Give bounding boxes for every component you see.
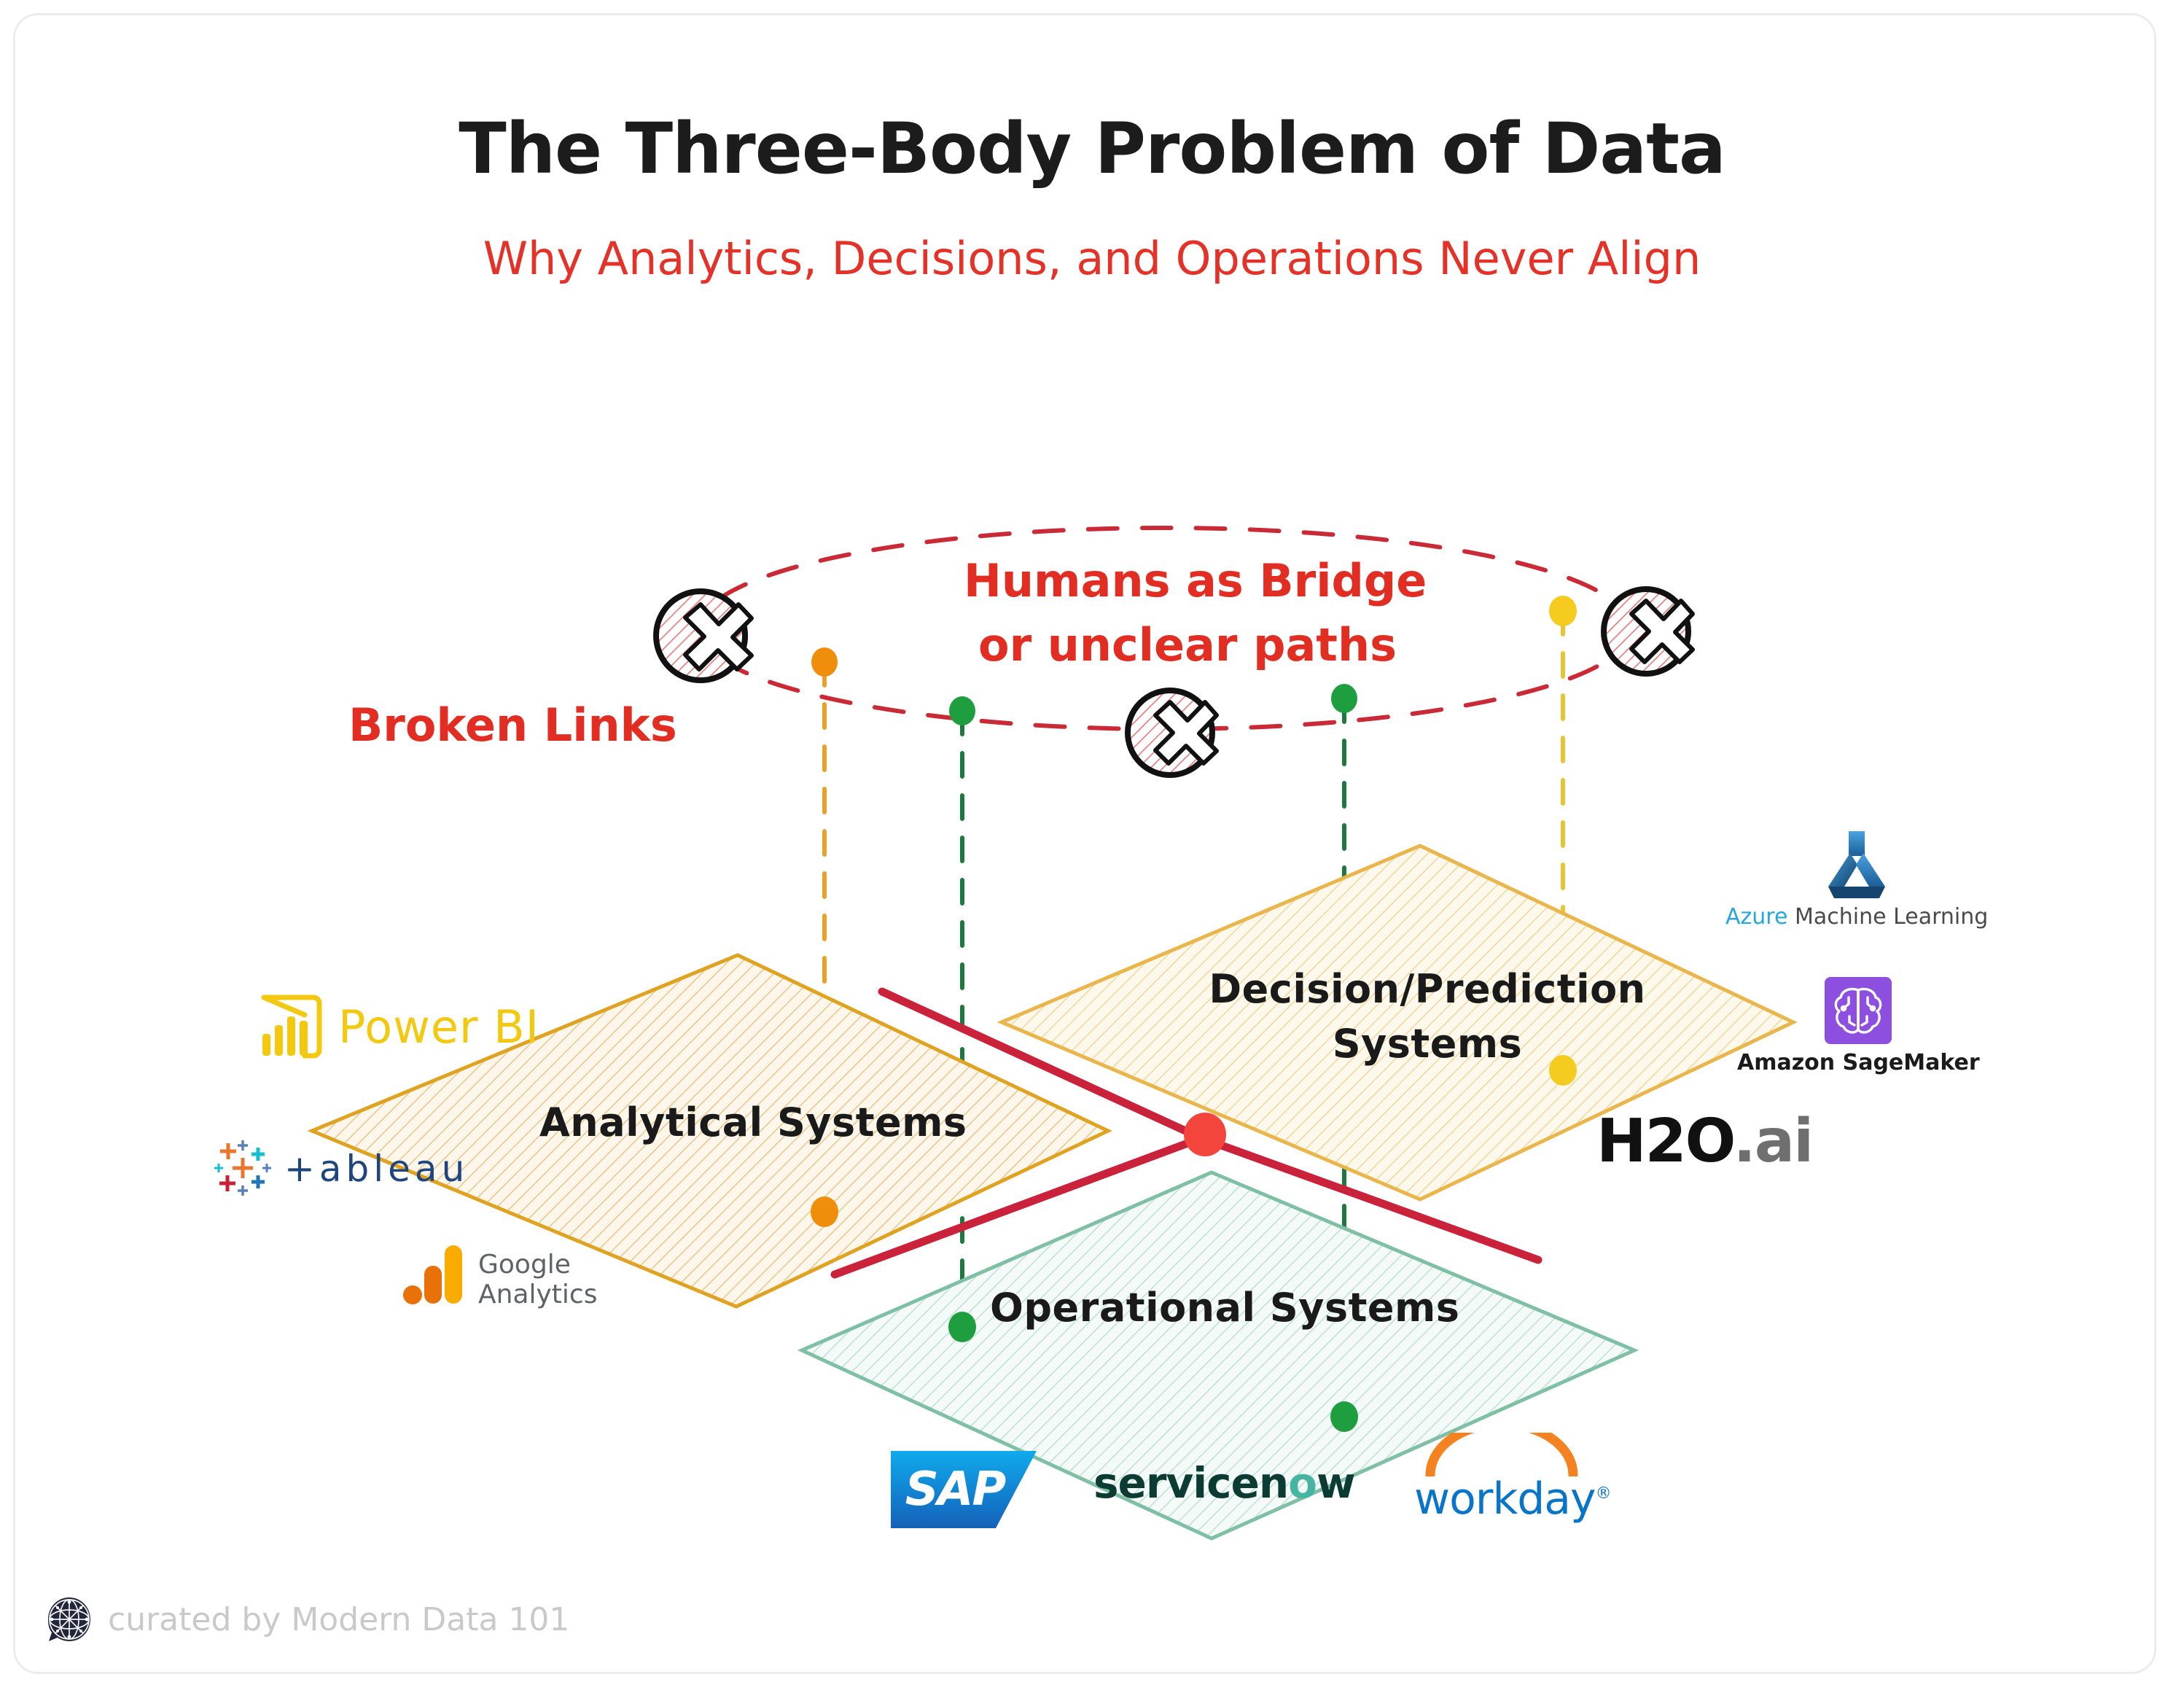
sagemaker-label: Amazon SageMaker	[1737, 1050, 1980, 1075]
google-analytics-line1: Google	[478, 1250, 597, 1280]
servicenow-accent-o: o	[1288, 1458, 1317, 1508]
plane-label-decision-line1: Decision/Prediction	[1201, 966, 1653, 1012]
dot-green-bottom-left	[948, 1312, 976, 1342]
servicenow-pre: servicen	[1093, 1458, 1288, 1508]
workday-label: workday®	[1414, 1474, 1611, 1525]
power-bi-label: Power BI	[338, 1000, 539, 1054]
power-bi-icon	[257, 989, 327, 1064]
dot-orange-top	[811, 647, 838, 677]
plane-label-operational: Operational Systems	[990, 1285, 1442, 1331]
footer-text: curated by Modern Data 101	[108, 1601, 569, 1638]
google-analytics-icon	[402, 1239, 467, 1309]
sap-icon: SAP	[891, 1451, 1037, 1528]
dot-green-bottom-right	[1330, 1401, 1358, 1432]
logo-h2o-ai[interactable]: H2O.ai	[1596, 1107, 1812, 1176]
logo-power-bi[interactable]: Power BI	[257, 989, 539, 1064]
workday-word: workday	[1414, 1474, 1596, 1525]
azure-ml-label: Azure Machine Learning	[1725, 904, 1988, 930]
modern-data-101-logo-icon	[45, 1595, 93, 1643]
h2o-main: H2O	[1596, 1107, 1733, 1176]
azure-ml-brand: Azure	[1725, 904, 1787, 930]
dot-green-top-left	[949, 696, 975, 725]
logo-google-analytics[interactable]: Google Analytics	[402, 1239, 597, 1309]
collision-point-dot	[1184, 1113, 1226, 1156]
logo-servicenow[interactable]: servicenow	[1093, 1458, 1355, 1508]
logo-azure-ml[interactable]: Azure Machine Learning	[1725, 828, 1988, 930]
plane-label-analytical: Analytical Systems	[539, 1099, 948, 1145]
servicenow-label: servicenow	[1093, 1458, 1355, 1508]
workday-registered: ®	[1596, 1484, 1611, 1503]
sagemaker-brain-icon	[1825, 977, 1892, 1044]
logo-tableau[interactable]: +ableau	[213, 1137, 469, 1200]
dot-orange-bottom	[811, 1196, 838, 1227]
broken-link-icon-right[interactable]	[1604, 589, 1693, 674]
workday-arc-icon	[1414, 1433, 1589, 1476]
footer: curated by Modern Data 101	[45, 1595, 569, 1643]
dot-green-top-right	[1331, 684, 1357, 713]
logo-amazon-sagemaker[interactable]: Amazon SageMaker	[1737, 977, 1980, 1075]
plane-label-decision-line2: Systems	[1201, 1021, 1653, 1067]
google-analytics-label: Google Analytics	[478, 1250, 597, 1309]
tableau-label: +ableau	[284, 1148, 469, 1190]
azure-ml-rest: Machine Learning	[1795, 904, 1988, 930]
logo-workday[interactable]: workday®	[1414, 1433, 1611, 1525]
tableau-icon	[213, 1137, 274, 1200]
h2o-suffix: .ai	[1733, 1107, 1813, 1176]
diagram-canvas: The Three-Body Problem of Data Why Analy…	[0, 0, 2184, 1701]
h2o-label: H2O.ai	[1596, 1107, 1812, 1176]
annotation-humans-bridge-line1: Humans as Bridge	[964, 554, 1427, 607]
annotation-humans-bridge-line2: or unclear paths	[978, 618, 1397, 672]
logo-sap[interactable]: SAP	[891, 1451, 1037, 1528]
azure-ml-icon	[1817, 828, 1897, 904]
dot-yellow-top	[1549, 596, 1577, 626]
broken-link-icon-center[interactable]	[1128, 690, 1217, 775]
annotation-broken-links: Broken Links	[348, 698, 677, 752]
google-analytics-line2: Analytics	[478, 1280, 597, 1309]
servicenow-post: w	[1317, 1458, 1355, 1508]
broken-link-icon-left[interactable]	[656, 591, 752, 680]
sap-label: SAP	[905, 1463, 1005, 1517]
